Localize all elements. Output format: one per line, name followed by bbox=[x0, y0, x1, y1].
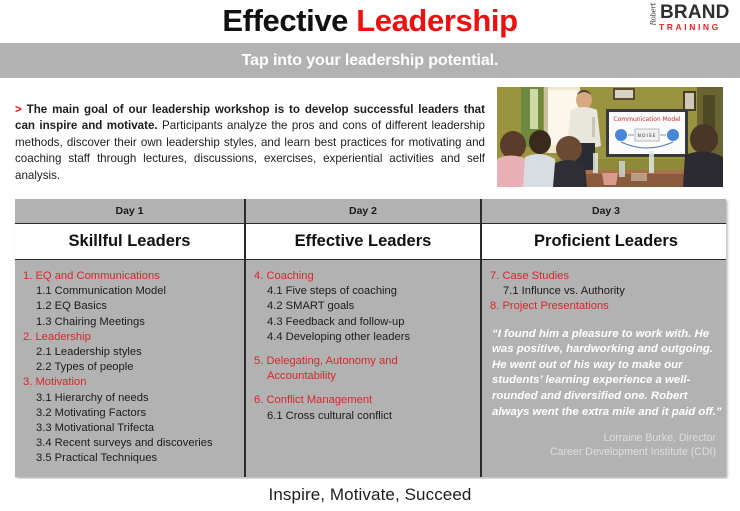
section-heading: 2. Leadership bbox=[23, 330, 236, 345]
section-heading-continuation: Accountability bbox=[254, 369, 472, 384]
section-heading: 7. Case Studies bbox=[490, 269, 722, 284]
svg-text:NOISE: NOISE bbox=[638, 133, 657, 139]
day-header-1: Day 1 bbox=[15, 199, 244, 223]
section-item: 4.1 Five steps of coaching bbox=[254, 284, 472, 299]
spacer bbox=[254, 384, 472, 393]
day-3-content: 7. Case Studies 7.1 Influnce vs. Authori… bbox=[482, 260, 730, 477]
section-heading-line-2: Accountability bbox=[254, 369, 472, 384]
day-1-content: 1. EQ and Communications 1.1 Communicati… bbox=[15, 260, 244, 477]
logo-brand-text: BRAND bbox=[660, 4, 730, 22]
section-item: 1.3 Chairing Meetings bbox=[23, 315, 236, 330]
page-title-part-2: Leadership bbox=[356, 3, 517, 38]
intro-chevron: > bbox=[15, 103, 22, 116]
section-item: 3.2 Motivating Factors bbox=[23, 406, 236, 421]
section-item: 4.3 Feedback and follow-up bbox=[254, 315, 472, 330]
section-item: 3.1 Hierarchy of needs bbox=[23, 391, 236, 406]
course-outline-table: Day 1 Day 2 Day 3 Skillful Leaders Effec… bbox=[15, 199, 726, 477]
section-item: 6.1 Cross cultural conflict bbox=[254, 409, 472, 424]
section-item: 3.5 Practical Techniques bbox=[23, 451, 236, 466]
section-item: 3.4 Recent surveys and discoveries bbox=[23, 436, 236, 451]
section-item: 1.1 Communication Model bbox=[23, 284, 236, 299]
section-item: 2.1 Leadership styles bbox=[23, 345, 236, 360]
section-heading: 3. Motivation bbox=[23, 375, 236, 390]
logo-script-mark: Robert bbox=[651, 14, 658, 26]
intro-paragraph: > The main goal of our leadership worksh… bbox=[15, 102, 485, 185]
day-header-3: Day 3 bbox=[482, 199, 730, 223]
section-heading: 6. Conflict Management bbox=[254, 393, 472, 408]
table-body-row: 1. EQ and Communications 1.1 Communicati… bbox=[15, 260, 726, 477]
day-header-2: Day 2 bbox=[246, 199, 480, 223]
testimonial-quote: “I found him a pleasure to work with. He… bbox=[490, 327, 722, 421]
training-session-photo: Communication Model NOISE bbox=[497, 87, 723, 187]
section-item: 4.4 Developing other leaders bbox=[254, 330, 472, 345]
day-2-content: 4. Coaching 4.1 Five steps of coaching 4… bbox=[246, 260, 480, 477]
brand-logo: Robert BRAND TRAINING bbox=[648, 4, 732, 32]
page-title-part-1: Effective bbox=[222, 3, 356, 38]
section-item: 4.2 SMART goals bbox=[254, 299, 472, 314]
section-item: 1.2 EQ Basics bbox=[23, 299, 236, 314]
section-heading: 1. EQ and Communications bbox=[23, 269, 236, 284]
section-heading: 5. Delegating, Autonomy and bbox=[254, 354, 472, 369]
day-subtitle-3: Proficient Leaders bbox=[482, 224, 730, 259]
footer-tagline: Inspire, Motivate, Succeed bbox=[269, 485, 472, 505]
day-subtitle-1: Skillful Leaders bbox=[15, 224, 244, 259]
section-item: 2.2 Types of people bbox=[23, 360, 236, 375]
footer-bar: Inspire, Motivate, Succeed bbox=[0, 479, 740, 511]
section-heading: 8. Project Presentations bbox=[490, 299, 722, 314]
logo-row: Robert BRAND bbox=[648, 4, 732, 22]
photo-illustration: Communication Model NOISE bbox=[497, 87, 723, 187]
tagline-banner: Tap into your leadership potential. bbox=[0, 43, 740, 78]
section-item: 3.3 Motivational Trifecta bbox=[23, 421, 236, 436]
tagline-text: Tap into your leadership potential. bbox=[242, 52, 499, 70]
day-subtitle-2: Effective Leaders bbox=[246, 224, 480, 259]
attribution-name: Lorraine Burke, Director bbox=[490, 431, 716, 445]
section-item: 7.1 Influnce vs. Authority bbox=[490, 284, 722, 299]
testimonial-attribution: Lorraine Burke, Director Career Developm… bbox=[490, 431, 722, 459]
page-title: Effective Leadership bbox=[0, 1, 740, 41]
table-day-header-row: Day 1 Day 2 Day 3 bbox=[15, 199, 726, 224]
svg-text:Communication Model: Communication Model bbox=[613, 116, 681, 123]
section-heading: 4. Coaching bbox=[254, 269, 472, 284]
attribution-org: Career Development Institute (CDI) bbox=[490, 445, 716, 459]
spacer bbox=[254, 345, 472, 354]
table-subtitle-row: Skillful Leaders Effective Leaders Profi… bbox=[15, 224, 726, 260]
logo-training-text: TRAINING bbox=[648, 23, 732, 32]
title-bar: Effective Leadership Robert BRAND TRAINI… bbox=[0, 0, 740, 43]
